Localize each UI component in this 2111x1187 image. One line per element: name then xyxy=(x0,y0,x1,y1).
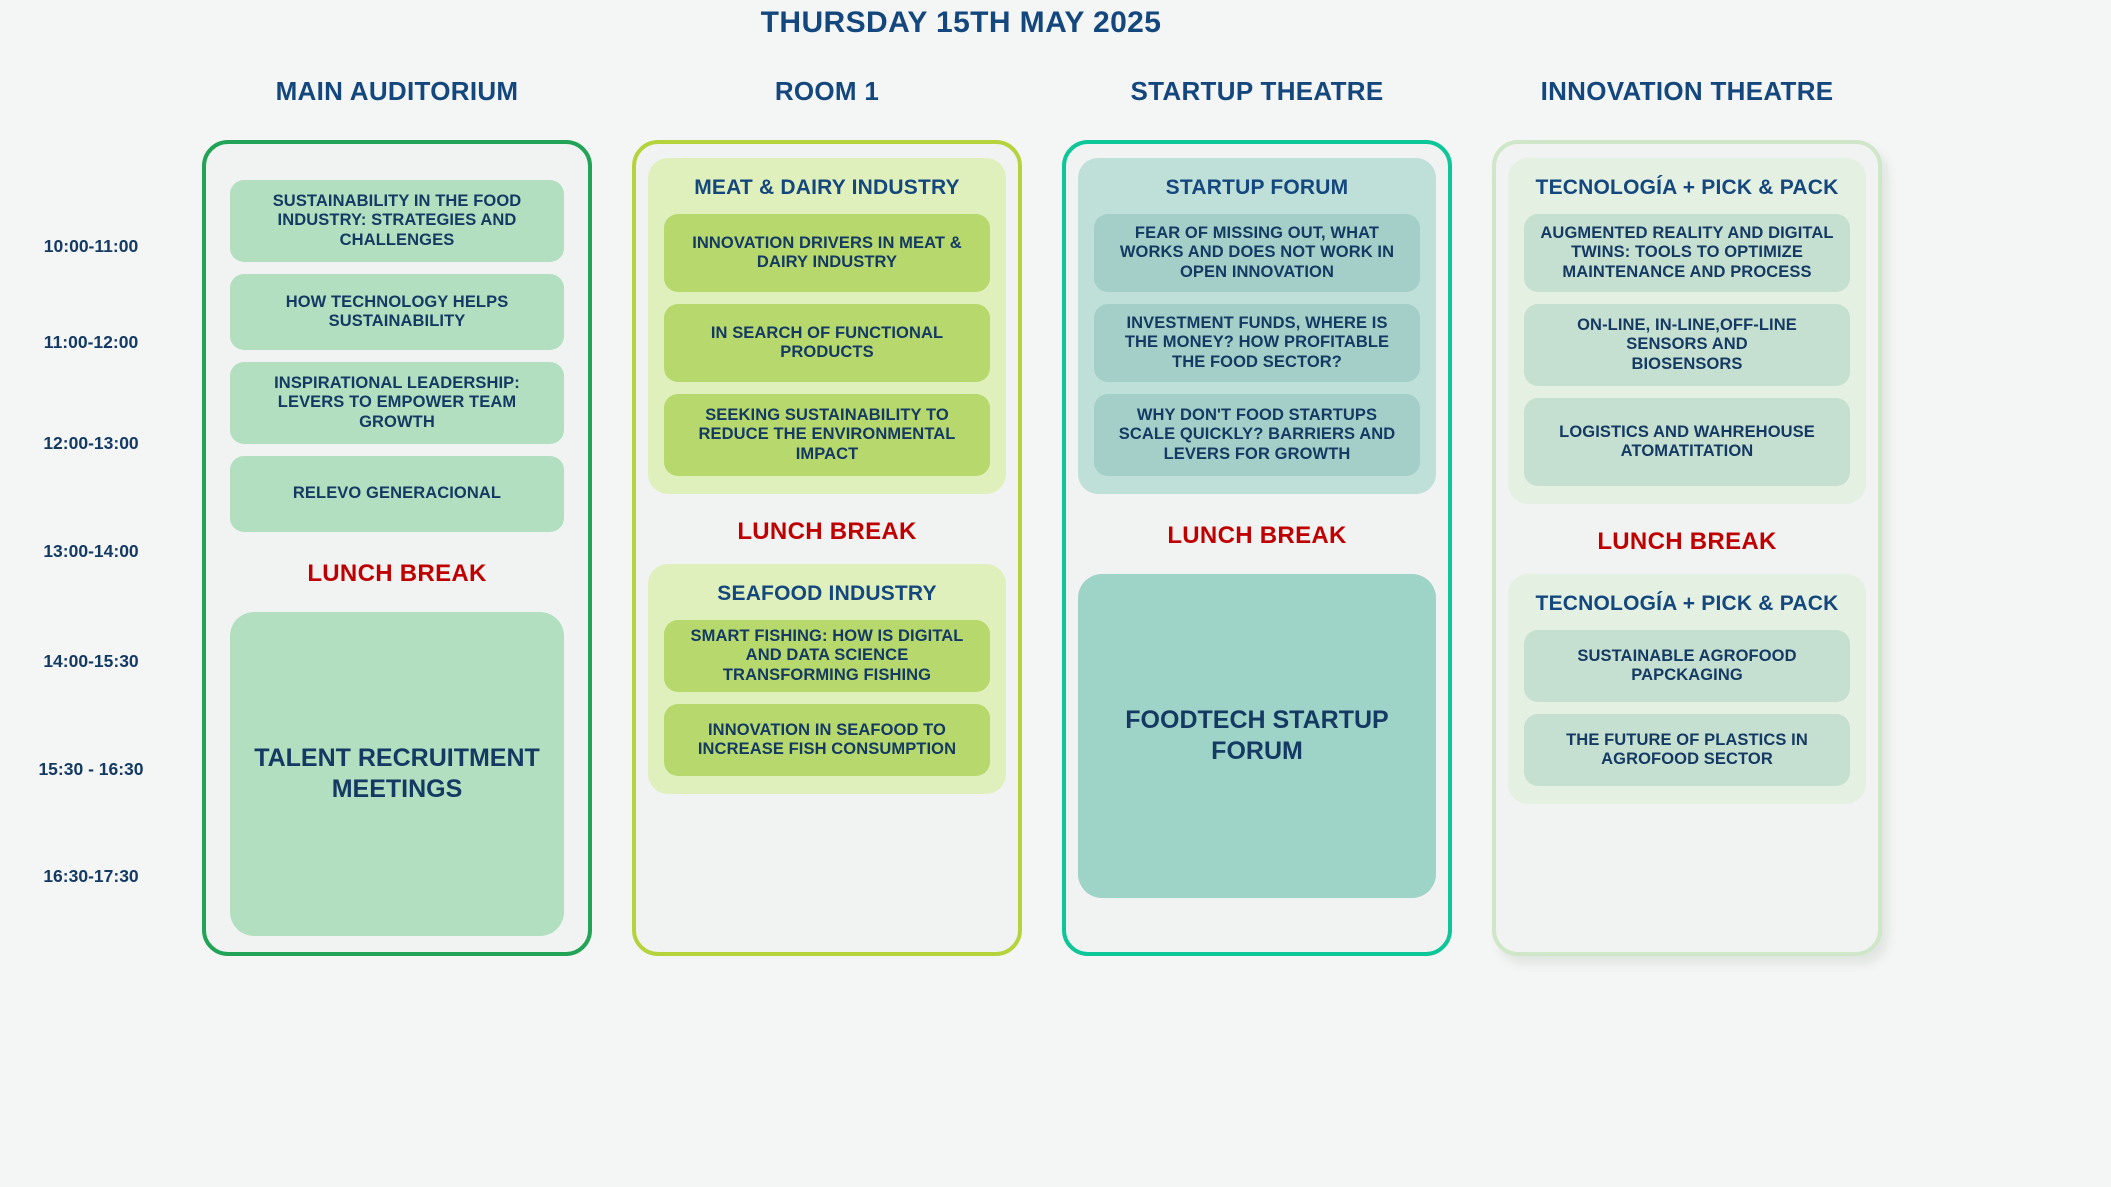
time-slot-label: 12:00-13:00 xyxy=(0,433,182,454)
lunch-break-label: LUNCH BREAK xyxy=(1078,494,1436,574)
schedule-page: THURSDAY 15TH MAY 2025 MAIN AUDITORIUM R… xyxy=(0,0,2111,1187)
track-header-room-1: ROOM 1 xyxy=(612,76,1042,107)
time-slot-label: 13:00-14:00 xyxy=(0,541,182,562)
morning-section-panel: TECNOLOGÍA + PICK & PACK AUGMENTED REALI… xyxy=(1508,158,1866,504)
track-columns: SUSTAINABILITY IN THE FOOD INDUSTRY: STR… xyxy=(182,140,1922,956)
track-column-room-1: MEAT & DAIRY INDUSTRY INNOVATION DRIVERS… xyxy=(612,140,1042,956)
time-rail: 10:00-11:00 11:00-12:00 12:00-13:00 13:0… xyxy=(0,132,182,952)
morning-group: SUSTAINABILITY IN THE FOOD INDUSTRY: STR… xyxy=(218,158,576,532)
session-card[interactable]: INSPIRATIONAL LEADERSHIP: LEVERS TO EMPO… xyxy=(230,362,564,444)
session-card[interactable]: SEEKING SUSTAINABILITY TO REDUCE THE ENV… xyxy=(664,394,990,476)
track-column-main-auditorium: SUSTAINABILITY IN THE FOOD INDUSTRY: STR… xyxy=(182,140,612,956)
track-header-innovation-theatre: INNOVATION THEATRE xyxy=(1472,76,1902,107)
session-card[interactable]: IN SEARCH OF FUNCTIONAL PRODUCTS xyxy=(664,304,990,382)
session-card[interactable]: THE FUTURE OF PLASTICS IN AGROFOOD SECTO… xyxy=(1524,714,1850,786)
track-header-row: MAIN AUDITORIUM ROOM 1 STARTUP THEATRE I… xyxy=(182,76,1922,107)
section-title: STARTUP FORUM xyxy=(1094,172,1420,214)
track-column-innovation-theatre: TECNOLOGÍA + PICK & PACK AUGMENTED REALI… xyxy=(1472,140,1902,956)
section-title: TECNOLOGÍA + PICK & PACK xyxy=(1524,588,1850,630)
morning-section-panel: STARTUP FORUM FEAR OF MISSING OUT, WHAT … xyxy=(1078,158,1436,494)
afternoon-section-panel: TECNOLOGÍA + PICK & PACK SUSTAINABLE AGR… xyxy=(1508,574,1866,804)
time-slot-label: 11:00-12:00 xyxy=(0,332,182,353)
session-card[interactable]: INVESTMENT FUNDS, WHERE IS THE MONEY? HO… xyxy=(1094,304,1420,382)
track-header-startup-theatre: STARTUP THEATRE xyxy=(1042,76,1472,107)
time-slot-label: 15:30 - 16:30 xyxy=(0,759,182,780)
track-frame: SUSTAINABILITY IN THE FOOD INDUSTRY: STR… xyxy=(202,140,592,956)
lunch-break-label: LUNCH BREAK xyxy=(648,494,1006,564)
afternoon-section-panel: SEAFOOD INDUSTRY SMART FISHING: HOW IS D… xyxy=(648,564,1006,794)
session-card[interactable]: AUGMENTED REALITY AND DIGITAL TWINS: TOO… xyxy=(1524,214,1850,292)
lunch-break-label: LUNCH BREAK xyxy=(1508,504,1866,574)
lunch-break-label: LUNCH BREAK xyxy=(218,532,576,612)
session-card[interactable]: HOW TECHNOLOGY HELPS SUSTAINABILITY xyxy=(230,274,564,350)
session-card[interactable]: INNOVATION IN SEAFOOD TO INCREASE FISH C… xyxy=(664,704,990,776)
time-slot-label: 10:00-11:00 xyxy=(0,236,182,257)
track-frame: TECNOLOGÍA + PICK & PACK AUGMENTED REALI… xyxy=(1492,140,1882,956)
session-card[interactable]: SUSTAINABLE AGROFOOD PAPCKAGING xyxy=(1524,630,1850,702)
time-slot-label: 16:30-17:30 xyxy=(0,866,182,887)
time-slot-label: 14:00-15:30 xyxy=(0,651,182,672)
session-card[interactable]: ON-LINE, IN-LINE,OFF-LINE SENSORS AND BI… xyxy=(1524,304,1850,386)
track-header-main-auditorium: MAIN AUDITORIUM xyxy=(182,76,612,107)
session-card[interactable]: LOGISTICS AND WAHREHOUSE ATOMATITATION xyxy=(1524,398,1850,486)
section-title: TECNOLOGÍA + PICK & PACK xyxy=(1524,172,1850,214)
session-card[interactable]: SMART FISHING: HOW IS DIGITAL AND DATA S… xyxy=(664,620,990,692)
session-card[interactable]: RELEVO GENERACIONAL xyxy=(230,456,564,532)
session-card[interactable]: WHY DON'T FOOD STARTUPS SCALE QUICKLY? B… xyxy=(1094,394,1420,476)
page-title: THURSDAY 15TH MAY 2025 xyxy=(0,6,1922,40)
track-frame: STARTUP FORUM FEAR OF MISSING OUT, WHAT … xyxy=(1062,140,1452,956)
section-title: SEAFOOD INDUSTRY xyxy=(664,578,990,620)
track-frame: MEAT & DAIRY INDUSTRY INNOVATION DRIVERS… xyxy=(632,140,1022,956)
feature-session-card[interactable]: FOODTECH STARTUP FORUM xyxy=(1078,574,1436,898)
session-card[interactable]: SUSTAINABILITY IN THE FOOD INDUSTRY: STR… xyxy=(230,180,564,262)
session-card[interactable]: FEAR OF MISSING OUT, WHAT WORKS AND DOES… xyxy=(1094,214,1420,292)
session-card[interactable]: INNOVATION DRIVERS IN MEAT & DAIRY INDUS… xyxy=(664,214,990,292)
morning-section-panel: MEAT & DAIRY INDUSTRY INNOVATION DRIVERS… xyxy=(648,158,1006,494)
feature-session-card[interactable]: TALENT RECRUITMENT MEETINGS xyxy=(230,612,564,936)
section-title: MEAT & DAIRY INDUSTRY xyxy=(664,172,990,214)
track-column-startup-theatre: STARTUP FORUM FEAR OF MISSING OUT, WHAT … xyxy=(1042,140,1472,956)
